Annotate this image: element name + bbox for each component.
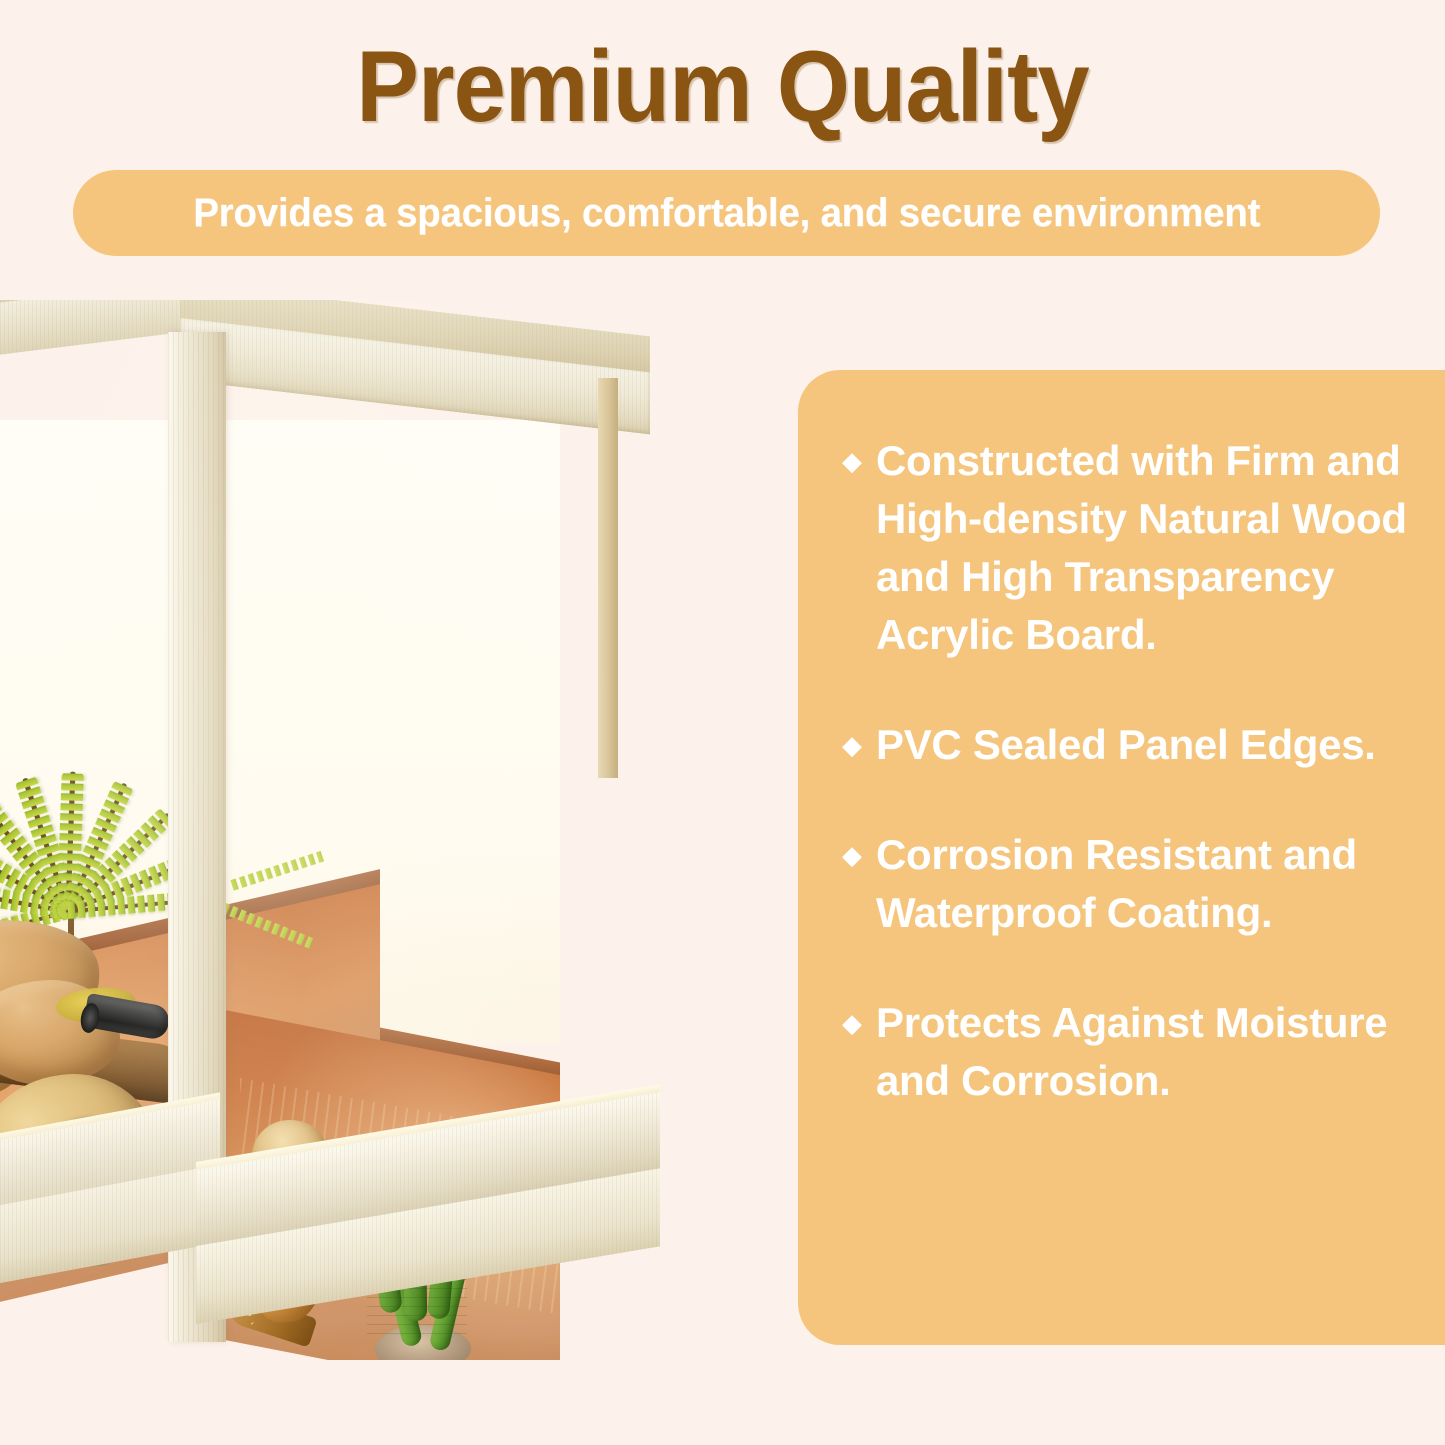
diamond-bullet-icon: ◆ <box>842 994 862 1052</box>
diamond-bullet-icon: ◆ <box>842 432 862 490</box>
feature-bullet-item: ◆ Protects Against Moisture and Corrosio… <box>842 994 1438 1110</box>
feature-bullet-text: Protects Against Moisture and Corrosion. <box>876 994 1416 1110</box>
subtitle-text: Provides a spacious, comfortable, and se… <box>193 191 1260 236</box>
fern-sprig-leaf <box>230 851 324 891</box>
feature-list-panel: ◆ Constructed with Firm and High-density… <box>798 370 1445 1345</box>
wood-frame-post-right <box>598 378 618 778</box>
feature-bullet-item: ◆ Corrosion Resistant and Waterproof Coa… <box>842 826 1438 942</box>
fern-sprig-leaf <box>221 903 313 949</box>
diamond-bullet-icon: ◆ <box>842 716 862 774</box>
fern-sprig <box>222 840 342 960</box>
feature-bullet-item: ◆ PVC Sealed Panel Edges. <box>842 716 1438 774</box>
feature-bullet-text: Corrosion Resistant and Waterproof Coati… <box>876 826 1416 942</box>
product-photo <box>0 300 660 1445</box>
feature-bullet-item: ◆ Constructed with Firm and High-density… <box>842 432 1438 664</box>
page-title: Premium Quality <box>51 34 1395 140</box>
feature-bullet-text: PVC Sealed Panel Edges. <box>876 716 1376 774</box>
diamond-bullet-icon: ◆ <box>842 826 862 884</box>
feature-bullet-text: Constructed with Firm and High-density N… <box>876 432 1416 664</box>
subtitle-banner: Provides a spacious, comfortable, and se… <box>73 170 1380 256</box>
